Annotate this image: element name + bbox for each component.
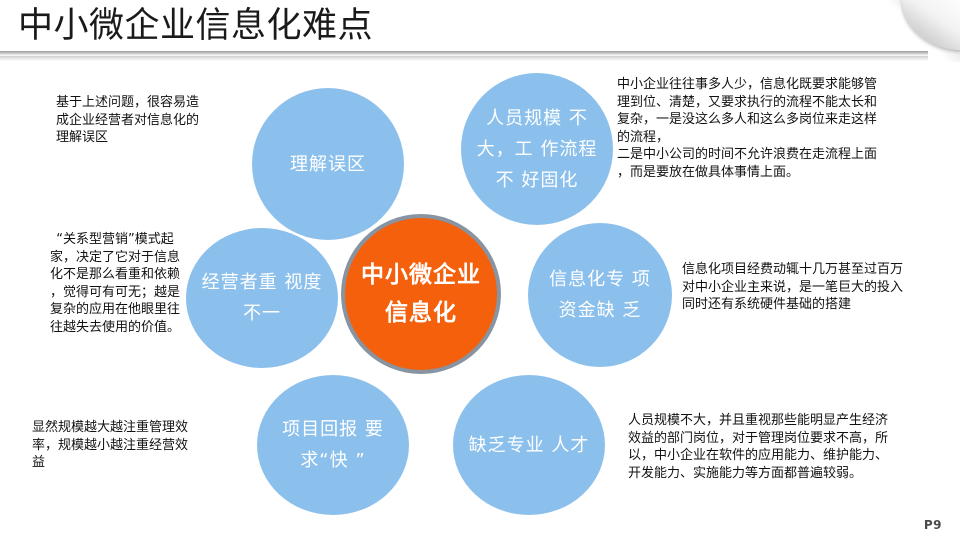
petal-small-headcount[interactable]: 人员规模 不大，工 作流程不 好固化 [461, 73, 613, 225]
petal-understanding-gap[interactable]: 理解误区 [252, 88, 404, 240]
note-funding-shortage: 信息化项目经费动辄十几万甚至过百万 对中小企业主来说，是一笔巨大的投入 同时还有… [682, 261, 954, 314]
hub-label: 中小微企业 信息化 [361, 256, 481, 332]
petal-label: 缺乏专业 人才 [455, 430, 604, 461]
hub-label-line1: 中小微企业 [361, 256, 481, 294]
note-owner-attention: “关系型营销”模式起 家，决定了它对于信息 化不是那么看重和依赖 ，觉得可有可无… [20, 231, 210, 336]
petal-label: 信息化专 项资金缺 乏 [528, 264, 672, 326]
petal-lack-talent[interactable]: 缺乏专业 人才 [453, 375, 605, 515]
note-small-headcount: 中小企业往往事多人少，信息化既要求能够管 理到位、清楚，又要求执行的流程不能太长… [617, 76, 947, 181]
hub-label-line2: 信息化 [361, 294, 481, 332]
note-fast-roi: 显然规模越大越注重管理效 率，规模越小越注重经营效 益 [32, 419, 222, 472]
petal-label: 人员规模 不大，工 作流程不 好固化 [461, 103, 613, 196]
hub-center[interactable]: 中小微企业 信息化 [345, 218, 497, 370]
petal-label: 项目回报 要求“快 ” [257, 414, 409, 476]
petal-fast-roi[interactable]: 项目回报 要求“快 ” [257, 375, 409, 515]
note-lack-talent: 人员规模不大，并且重视那些能明显产生经济 效益的部门岗位，对于管理岗位要求不高，… [628, 412, 954, 482]
note-understanding-gap: 基于上述问题，很容易造 成企业经营者对信息化的 理解误区 [56, 94, 236, 147]
petal-label: 理解误区 [276, 149, 380, 180]
petal-funding-shortage[interactable]: 信息化专 项资金缺 乏 [528, 223, 672, 367]
page-number: P9 [924, 518, 942, 532]
